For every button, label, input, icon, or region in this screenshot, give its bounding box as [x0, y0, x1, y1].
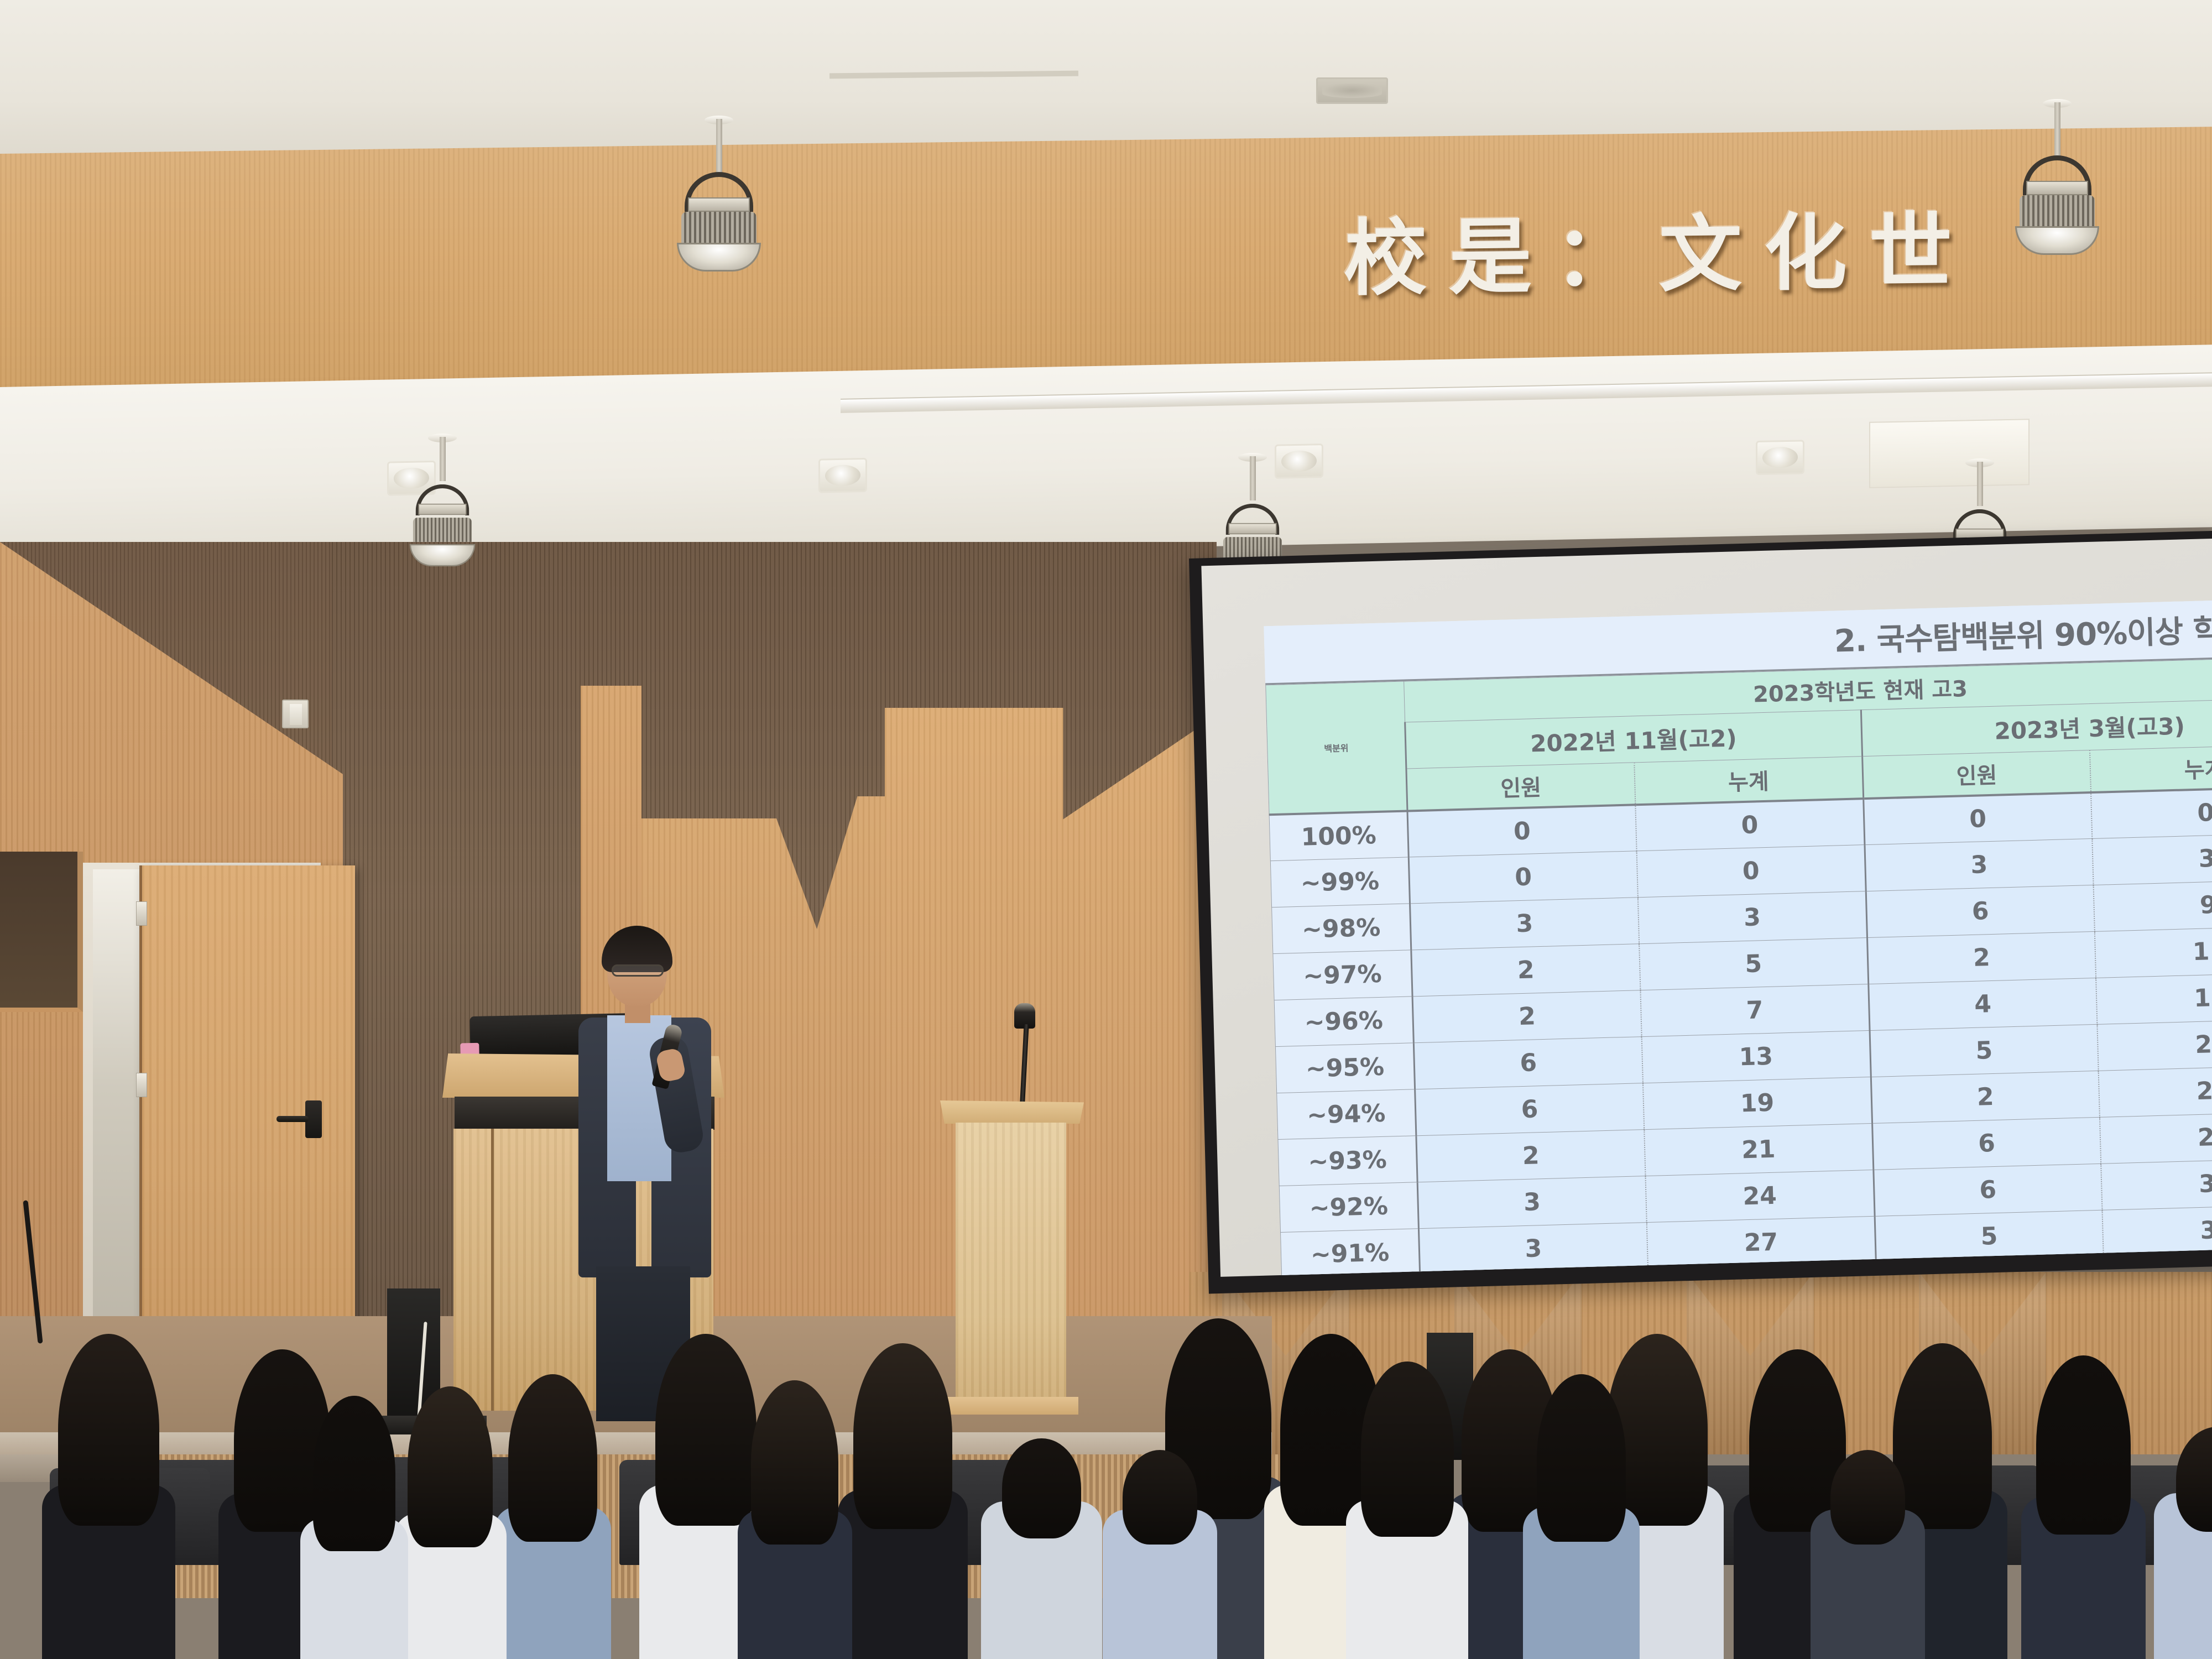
audience-member: [2013, 1377, 2154, 1659]
auditorium-scene: 校是：文化世: [0, 0, 2212, 1659]
audience-head: [2176, 1427, 2212, 1532]
door-handle-icon[interactable]: [276, 1116, 309, 1122]
th-cumulative-2: 누계: [2090, 744, 2212, 792]
wall-niche: [0, 852, 83, 1012]
cell-cumulative-1: 5: [1639, 938, 1868, 990]
glasses-icon: [612, 964, 664, 977]
audience-member: [1515, 1395, 1647, 1659]
cell-cumulative-1: 19: [1643, 1077, 1872, 1129]
projection-screen: 2. 국수탐백분위 90%이상 학생수 ㅂ 백분위 2023학년도 현재 고3 …: [1189, 531, 2212, 1294]
audience-head: [751, 1380, 838, 1545]
cell-count-2: 0: [1863, 792, 2092, 845]
audience-member: [1803, 1400, 1932, 1659]
downlight-icon: [818, 458, 867, 493]
soffit-rail: [841, 372, 2212, 413]
cell-cumulative-1: 7: [1640, 984, 1869, 1037]
downlight-icon: [1756, 440, 1804, 475]
audience-head: [2036, 1355, 2131, 1534]
soffit-access-panel: [1869, 419, 2030, 488]
downlight-icon: [1275, 444, 1323, 479]
cell-cumulative-1: 3: [1638, 891, 1867, 944]
cell-count-1: 2: [1416, 1130, 1645, 1182]
cell-count-1: 6: [1415, 1083, 1644, 1136]
cell-count-1: 2: [1412, 990, 1641, 1043]
cell-cumulative-2: 3: [2093, 832, 2212, 885]
cell-cumulative-2: 28: [2100, 1111, 2212, 1164]
school-motto-sign: 校是：文化世: [1344, 184, 1974, 312]
audience-member: [33, 1357, 184, 1659]
audience-member: [293, 1415, 415, 1659]
cell-percentile: ~92%: [1279, 1182, 1418, 1233]
wall-plate-icon: [282, 700, 309, 728]
presentation-slide: 2. 국수탐백분위 90%이상 학생수 ㅂ 백분위 2023학년도 현재 고3 …: [1264, 598, 2212, 1277]
cell-count-2: 6: [1872, 1117, 2101, 1170]
cell-percentile: ~99%: [1270, 857, 1410, 907]
audience-head: [1537, 1374, 1626, 1542]
cell-cumulative-2: 0: [2091, 786, 2212, 838]
cell-percentile: 100%: [1269, 811, 1408, 861]
cell-count-2: 6: [1873, 1164, 2102, 1216]
audience-member: [973, 1386, 1110, 1659]
audience-member: [2146, 1371, 2212, 1659]
cell-cumulative-1: 0: [1635, 799, 1864, 851]
cell-cumulative-2: 22: [2099, 1065, 2212, 1117]
audience-member: [1338, 1383, 1477, 1659]
cell-percentile: ~96%: [1274, 997, 1413, 1047]
th-cumulative-1: 누계: [1634, 757, 1863, 805]
cell-percentile: ~94%: [1277, 1089, 1416, 1140]
cell-cumulative-2: 20: [2098, 1018, 2212, 1071]
cell-count-2: 2: [1871, 1071, 2100, 1123]
cell-cumulative-1: 0: [1636, 845, 1865, 898]
audience-head: [1361, 1361, 1454, 1537]
cell-cumulative-2: 11: [2095, 925, 2212, 978]
table-body: 100%0000~99%0033~98%3369~97%25211~96%274…: [1269, 786, 2212, 1277]
audience-head: [508, 1374, 597, 1542]
cell-percentile: ~97%: [1273, 950, 1412, 1000]
ceiling-vent-icon: [1316, 77, 1388, 104]
cell-count-2: 6: [1866, 885, 2095, 937]
door-hinge-icon: [136, 901, 147, 926]
cell-cumulative-2: 15: [2096, 972, 2212, 1024]
cell-cumulative-2: 9: [2094, 879, 2212, 931]
cell-percentile: ~98%: [1272, 904, 1411, 954]
cell-count-2: 2: [1867, 931, 2096, 984]
audience-member: [1095, 1400, 1224, 1659]
percentile-table: 백분위 2023학년도 현재 고3 2022년 11월(고2) 2023년 3월…: [1265, 656, 2212, 1277]
cell-cumulative-2: 39: [2103, 1204, 2212, 1256]
audience-head: [408, 1386, 493, 1547]
cell-percentile: ~95%: [1275, 1043, 1415, 1093]
audience-head: [58, 1334, 160, 1526]
cell-count-2: 3: [1864, 838, 2093, 891]
lectern-top: [940, 1100, 1084, 1124]
cell-count-2: 5: [1870, 1024, 2099, 1077]
cell-cumulative-1: 24: [1645, 1170, 1874, 1222]
audience-head: [1123, 1450, 1197, 1545]
screen-surface: 2. 국수탐백분위 90%이상 학생수 ㅂ 백분위 2023학년도 현재 고3 …: [1201, 539, 2212, 1277]
cell-count-1: 6: [1413, 1037, 1642, 1089]
cell-count-1: 2: [1411, 944, 1640, 997]
cell-count-1: 0: [1407, 805, 1636, 857]
audience-member: [730, 1400, 859, 1659]
cell-cumulative-2: 34: [2101, 1157, 2212, 1210]
audience-head: [1002, 1438, 1081, 1538]
cell-count-1: 3: [1410, 898, 1639, 950]
cell-count-2: 4: [1868, 978, 2097, 1030]
cell-cumulative-1: 21: [1644, 1123, 1873, 1176]
door-hinge-icon: [136, 1073, 147, 1097]
cell-count-1: 3: [1417, 1176, 1646, 1229]
cell-count-1: 0: [1408, 851, 1637, 904]
th-percentile: 백분위: [1266, 681, 1407, 815]
cell-cumulative-1: 13: [1641, 1031, 1870, 1083]
audience-head: [1830, 1450, 1905, 1545]
audience: [0, 1288, 2212, 1659]
audience-head: [313, 1396, 395, 1551]
cell-percentile: ~93%: [1278, 1136, 1417, 1186]
th-count-2: 인원: [1862, 750, 2091, 799]
th-count-1: 인원: [1406, 763, 1635, 811]
cell-percentile: ~91%: [1281, 1229, 1420, 1277]
audience-head: [853, 1343, 952, 1530]
